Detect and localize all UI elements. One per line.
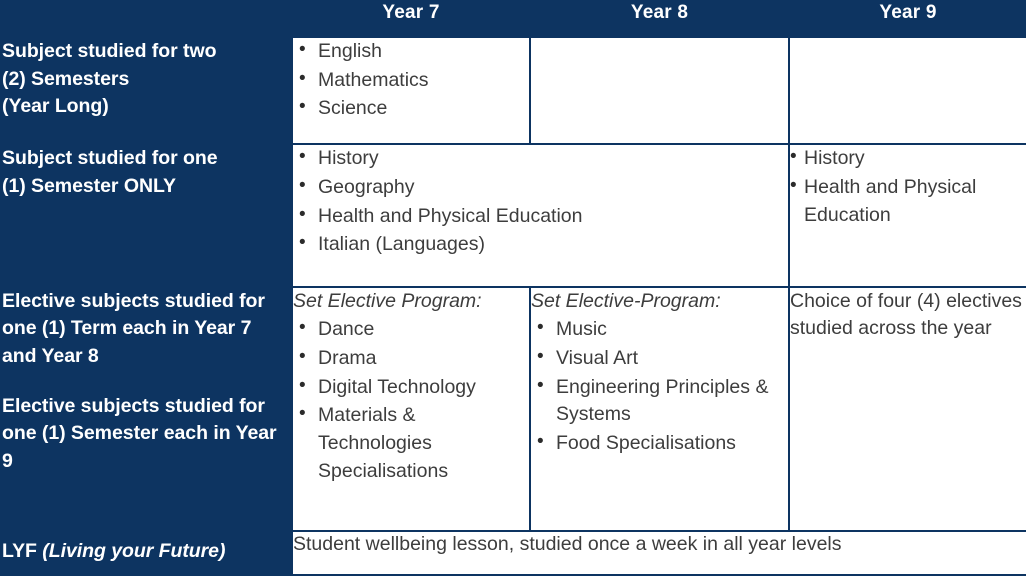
row-label-line-1: Subject studied for two [2,38,291,66]
row-label-line-2: (1) Semester ONLY [2,173,291,201]
subjects-table-container: Year 7 Year 8 Year 9 Subject studied for… [0,0,1026,576]
list-item: Geography [293,174,788,202]
list-item: Health and Physical Education [293,203,788,231]
header-cell-year8: Year 8 [530,1,789,37]
row-label-year-long: Subject studied for two (2) Semesters (Y… [1,37,292,144]
paragraph-spacer [2,371,291,393]
lyf-expanded-name: (Living your Future) [42,540,225,562]
cell-year-long-year9 [789,37,1026,144]
list-item: History [293,145,788,173]
header-cell-year9: Year 9 [789,1,1026,37]
subject-list-year9: History Health and Physical Education [790,145,1026,229]
row-label-lyf: LYF (Living your Future) [1,531,292,575]
list-item: Dance [293,316,529,344]
header-cell-year7: Year 7 [292,1,530,37]
cell-lyf-merged: Student wellbeing lesson, studied once a… [292,531,1026,575]
header-row: Year 7 Year 8 Year 9 [1,1,1026,37]
row-label-line-1: Subject studied for one [2,145,291,173]
row-label-paragraph-2: Elective subjects studied for one (1) Se… [2,393,291,476]
subjects-table: Year 7 Year 8 Year 9 Subject studied for… [0,0,1026,576]
row-label-one-semester: Subject studied for one (1) Semester ONL… [1,144,292,286]
table-row-year-long: Subject studied for two (2) Semesters (Y… [1,37,1026,144]
elective-list-year7: Dance Drama Digital Technology Materials… [293,316,529,485]
list-item: History [790,145,1026,173]
list-item: Italian (Languages) [293,231,788,259]
cell-one-semester-year7-year8-merged: History Geography Health and Physical Ed… [292,144,789,286]
elective-list-year8: Music Visual Art Engineering Principles … [531,316,788,457]
table-body: Subject studied for two (2) Semesters (Y… [1,37,1026,575]
list-item: Visual Art [531,345,788,373]
list-item: English [293,38,529,66]
cell-year-long-year7: English Mathematics Science [292,37,530,144]
subject-list-year7: English Mathematics Science [293,38,529,123]
list-item: Materials & Technologies Specialisations [293,402,529,485]
header-cell-blank [1,1,292,37]
cell-electives-year7: Set Elective Program: Dance Drama Digita… [292,287,530,532]
elective-description-year9: Choice of four (4) electives studied acr… [790,288,1026,343]
list-item: Science [293,95,529,123]
table-row-lyf: LYF (Living your Future) Student wellbei… [1,531,1026,575]
table-row-electives: Elective subjects studied for one (1) Te… [1,287,1026,532]
table-row-one-semester: Subject studied for one (1) Semester ONL… [1,144,1026,286]
table-header: Year 7 Year 8 Year 9 [1,1,1026,37]
cell-electives-year9: Choice of four (4) electives studied acr… [789,287,1026,532]
list-item: Drama [293,345,529,373]
row-label-line-2: (2) Semesters [2,66,291,94]
cell-year-long-year8 [530,37,789,144]
list-item: Music [531,316,788,344]
elective-program-heading-year8: Set Elective-Program: [531,288,788,316]
subject-list-year7-year8: History Geography Health and Physical Ed… [293,145,788,259]
lyf-abbreviation: LYF [2,540,42,562]
elective-program-heading-year7: Set Elective Program: [293,288,529,316]
list-item: Health and Physical Education [790,174,1026,229]
list-item: Mathematics [293,67,529,95]
cell-one-semester-year9: History Health and Physical Education [789,144,1026,286]
cell-electives-year8: Set Elective-Program: Music Visual Art E… [530,287,789,532]
list-item: Digital Technology [293,374,529,402]
row-label-paragraph-1: Elective subjects studied for one (1) Te… [2,288,291,371]
row-label-electives: Elective subjects studied for one (1) Te… [1,287,292,532]
row-label-line-3: (Year Long) [2,93,291,121]
list-item: Food Specialisations [531,430,788,458]
list-item: Engineering Principles & Systems [531,374,788,429]
